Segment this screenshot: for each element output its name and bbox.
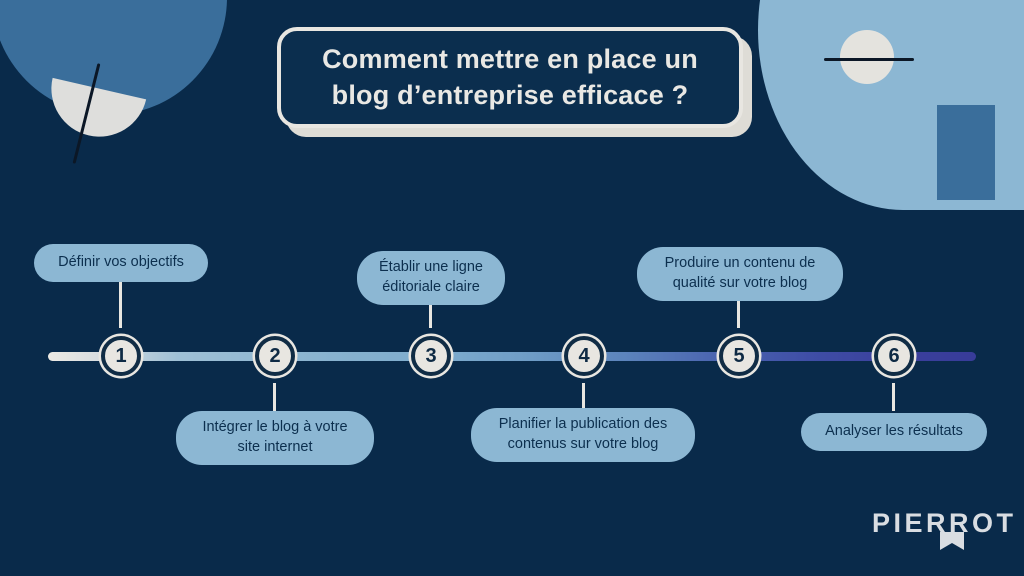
step-label-4: Planifier la publication des contenus su…: [471, 408, 695, 462]
connector-3: [429, 305, 432, 328]
connector-6: [892, 383, 895, 411]
decorative-circle-cream: [840, 30, 894, 84]
title-card: Comment mettre en place un blog d’entrep…: [277, 27, 743, 128]
page-title: Comment mettre en place un blog d’entrep…: [281, 42, 739, 113]
step-label-1: Définir vos objectifs: [34, 244, 208, 282]
timeline-node-6[interactable]: 6: [874, 336, 914, 376]
connector-5: [737, 301, 740, 328]
decorative-rectangle: [937, 105, 995, 200]
connector-1: [119, 282, 122, 328]
title-card-box: Comment mettre en place un blog d’entrep…: [277, 27, 743, 128]
timeline-node-5[interactable]: 5: [719, 336, 759, 376]
connector-2: [273, 383, 276, 411]
banner-mark-icon: [938, 531, 966, 551]
step-label-5: Produire un contenu de qualité sur votre…: [637, 247, 843, 301]
timeline-bar: [48, 352, 976, 361]
decorative-horizontal-line: [824, 58, 914, 61]
slide-canvas: Comment mettre en place un blog d’entrep…: [0, 0, 1024, 576]
step-label-3: Établir une ligne éditoriale claire: [357, 251, 505, 305]
step-label-2: Intégrer le blog à votre site internet: [176, 411, 374, 465]
connector-4: [582, 383, 585, 408]
timeline-node-1[interactable]: 1: [101, 336, 141, 376]
timeline-node-4[interactable]: 4: [564, 336, 604, 376]
timeline-node-3[interactable]: 3: [411, 336, 451, 376]
timeline-node-2[interactable]: 2: [255, 336, 295, 376]
step-label-6: Analyser les résultats: [801, 413, 987, 451]
